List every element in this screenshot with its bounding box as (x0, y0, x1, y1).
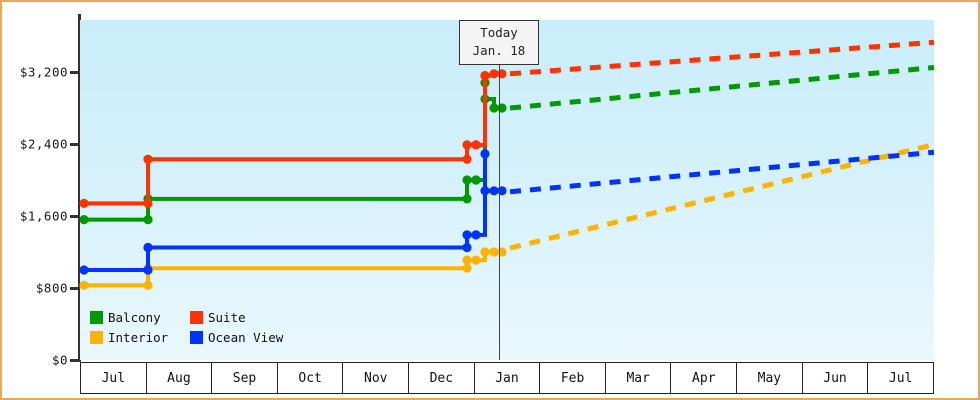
y-label-2400: $2,400 (20, 137, 68, 152)
y-label-1600: $1,600 (20, 209, 68, 224)
y-label-3200: $3,200 (20, 65, 68, 80)
legend: Balcony Suite Interior Ocean View (90, 310, 300, 345)
month-cell-jan[interactable]: Jan (475, 363, 541, 393)
y-tick-800 (70, 287, 79, 290)
y-tick-0 (70, 359, 79, 362)
month-cell-dec[interactable]: Dec (409, 363, 475, 393)
y-label-800: $800 (36, 281, 68, 296)
month-cell-apr[interactable]: Apr (671, 363, 737, 393)
month-cell-mar[interactable]: Mar (606, 363, 672, 393)
legend-label-suite: Suite (208, 310, 246, 325)
legend-label-balcony: Balcony (108, 310, 161, 325)
legend-swatch-balcony (90, 311, 103, 324)
x-axis-months: Jul Aug Sep Oct Nov Dec Jan Feb Mar Apr … (80, 362, 934, 394)
legend-item-interior[interactable]: Interior (90, 330, 190, 345)
legend-item-ocean-view[interactable]: Ocean View (190, 330, 300, 345)
month-cell-aug[interactable]: Aug (147, 363, 213, 393)
legend-label-ocean-view: Ocean View (208, 330, 283, 345)
y-tick-1600 (70, 215, 79, 218)
legend-item-balcony[interactable]: Balcony (90, 310, 190, 325)
month-cell-oct[interactable]: Oct (278, 363, 344, 393)
month-cell-may[interactable]: May (737, 363, 803, 393)
today-date: Jan. 18 (460, 42, 538, 60)
month-cell-jul-2[interactable]: Jul (868, 363, 933, 393)
month-cell-feb[interactable]: Feb (540, 363, 606, 393)
plot-area (80, 20, 934, 360)
today-vertical-line (499, 20, 500, 360)
month-cell-sep[interactable]: Sep (212, 363, 278, 393)
series-canvas (80, 20, 934, 360)
y-tick-3200 (70, 71, 79, 74)
month-cell-jul-1[interactable]: Jul (81, 363, 147, 393)
legend-swatch-ocean-view (190, 331, 203, 344)
month-cell-nov[interactable]: Nov (343, 363, 409, 393)
y-label-0: $0 (52, 353, 68, 368)
legend-swatch-interior (90, 331, 103, 344)
legend-swatch-suite (190, 311, 203, 324)
legend-label-interior: Interior (108, 330, 168, 345)
y-tick-2400 (70, 143, 79, 146)
today-label: Today (460, 24, 538, 42)
today-annotation: Today Jan. 18 (459, 20, 539, 65)
legend-item-suite[interactable]: Suite (190, 310, 300, 325)
chart-frame: $3,200 $2,400 $1,600 $800 $0 Today Jan. … (0, 0, 980, 400)
month-cell-jun[interactable]: Jun (803, 363, 869, 393)
